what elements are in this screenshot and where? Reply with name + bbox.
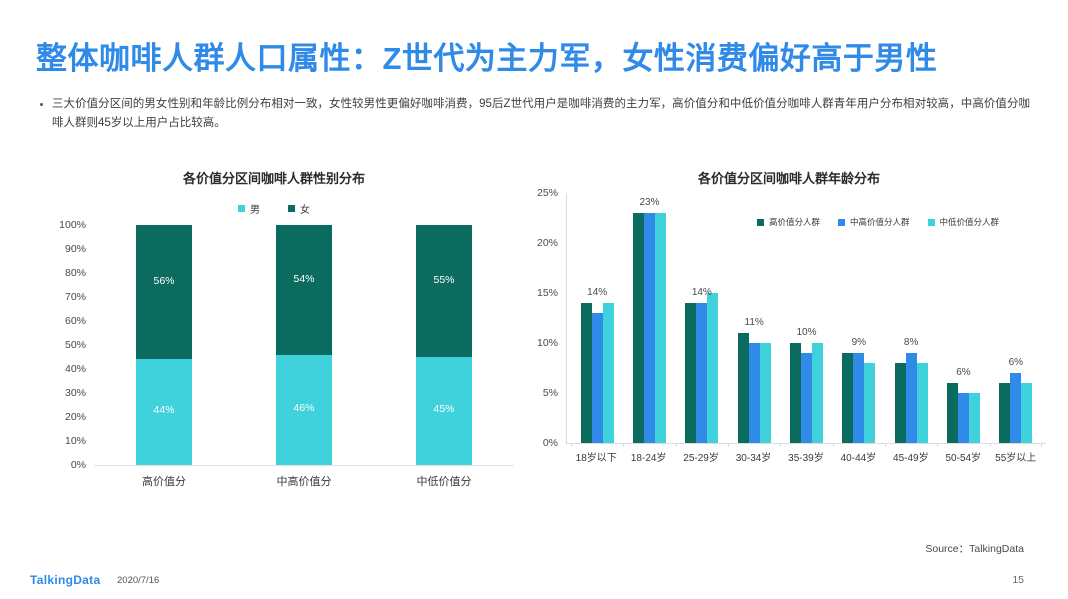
- stacked-bar-column[interactable]: 54% 46%: [276, 225, 332, 465]
- bars-container-age: 高价值分人群 中高价值分人群 中低价值分人群 14%: [566, 193, 1046, 444]
- bar-mid-high-value[interactable]: [958, 393, 969, 443]
- legend-label: 女: [300, 201, 310, 216]
- bar-value-label: 6%: [937, 367, 989, 378]
- x-tick-label: 18-24岁: [622, 449, 674, 464]
- bar-value-label: 54%: [293, 273, 314, 285]
- bar-value-label: 46%: [293, 402, 314, 414]
- axis-tick: [571, 443, 572, 447]
- bar-mid-high-value[interactable]: [749, 343, 760, 443]
- stacked-bar-column[interactable]: 56% 44%: [136, 225, 192, 465]
- bar-segment-male[interactable]: 45%: [416, 357, 472, 465]
- y-axis-gender: 100% 90% 80% 70% 60% 50% 40% 30% 20% 10%…: [46, 225, 86, 465]
- x-tick-label: 30-34岁: [727, 449, 779, 464]
- source-note: Source：TalkingData: [925, 541, 1024, 556]
- x-tick-label: 50-54岁: [937, 449, 989, 464]
- bar-group[interactable]: 9%: [833, 193, 885, 443]
- footer-date: 2020/7/16: [117, 575, 159, 586]
- subtitle-text: 三大价值分区间的男女性别和年龄比例分布相对一致，女性较男性更偏好咖啡消费，95后…: [52, 95, 1030, 133]
- y-tick: 25%: [537, 187, 558, 199]
- bar-mid-low-value[interactable]: [760, 343, 771, 443]
- y-tick: 0%: [71, 459, 86, 471]
- bar-mid-high-value[interactable]: [592, 313, 603, 443]
- legend-item-female[interactable]: 女: [288, 201, 310, 216]
- axis-tick: [885, 443, 886, 447]
- legend-label: 男: [250, 201, 260, 216]
- y-tick: 20%: [537, 237, 558, 249]
- x-tick-label: 高价值分: [119, 473, 209, 489]
- y-tick: 20%: [65, 411, 86, 423]
- axis-tick: [728, 443, 729, 447]
- plot-area-age: 25% 20% 15% 10% 5% 0% 高价值分人群 中高价值分人群: [524, 193, 1054, 443]
- y-tick: 40%: [65, 363, 86, 375]
- bar-high-value[interactable]: [842, 353, 853, 443]
- x-axis-gender: 高价值分 中高价值分 中低价值分: [94, 473, 514, 489]
- y-axis-age: 25% 20% 15% 10% 5% 0%: [524, 193, 558, 443]
- x-tick-label: 中高价值分: [259, 473, 349, 489]
- bar-segment-female[interactable]: 55%: [416, 225, 472, 357]
- axis-tick: [676, 443, 677, 447]
- bar-mid-high-value[interactable]: [644, 213, 655, 443]
- bar-mid-low-value[interactable]: [603, 303, 614, 443]
- x-tick-label: 40-44岁: [832, 449, 884, 464]
- bar-high-value[interactable]: [633, 213, 644, 443]
- bar-high-value[interactable]: [738, 333, 749, 443]
- gender-distribution-chart: 各价值分区间咖啡人群性别分布 男 女 100% 90% 80% 70% 60% …: [24, 160, 524, 500]
- y-tick: 90%: [65, 243, 86, 255]
- bar-value-label: 9%: [833, 337, 885, 348]
- bar-value-label: 23%: [623, 197, 675, 208]
- subtitle-block: 三大价值分区间的男女性别和年龄比例分布相对一致，女性较男性更偏好咖啡消费，95后…: [40, 95, 1030, 133]
- x-tick-label: 35-39岁: [780, 449, 832, 464]
- bar-group[interactable]: 14%: [676, 193, 728, 443]
- y-tick: 100%: [59, 219, 86, 231]
- bar-mid-high-value[interactable]: [853, 353, 864, 443]
- bar-value-label: 6%: [990, 357, 1042, 368]
- x-tick-label: 25-29岁: [675, 449, 727, 464]
- y-tick: 80%: [65, 267, 86, 279]
- grouped-bars: 14% 23% 14%: [567, 193, 1046, 443]
- legend-item-male[interactable]: 男: [238, 201, 260, 216]
- bar-segment-male[interactable]: 46%: [276, 355, 332, 465]
- bar-group[interactable]: 6%: [990, 193, 1042, 443]
- axis-tick: [990, 443, 991, 447]
- bar-segment-male[interactable]: 44%: [136, 359, 192, 465]
- bar-mid-low-value[interactable]: [707, 293, 718, 443]
- axis-tick: [937, 443, 938, 447]
- chart-title-age: 各价值分区间咖啡人群年龄分布: [524, 168, 1054, 187]
- bar-high-value[interactable]: [947, 383, 958, 443]
- y-tick: 70%: [65, 291, 86, 303]
- x-tick-label: 55岁以上: [990, 449, 1042, 464]
- legend-gender: 男 女: [24, 201, 524, 215]
- bar-mid-low-value[interactable]: [864, 363, 875, 443]
- bar-value-label: 56%: [153, 275, 174, 287]
- x-tick-label: 45-49岁: [885, 449, 937, 464]
- bar-high-value[interactable]: [581, 303, 592, 443]
- y-tick: 50%: [65, 339, 86, 351]
- bar-group[interactable]: 11%: [728, 193, 780, 443]
- bar-value-label: 11%: [728, 317, 780, 328]
- x-tick-label: 18岁以下: [570, 449, 622, 464]
- page-number: 15: [1012, 574, 1024, 586]
- y-tick: 30%: [65, 387, 86, 399]
- y-tick: 15%: [537, 287, 558, 299]
- bar-mid-high-value[interactable]: [1010, 373, 1021, 443]
- bar-mid-low-value[interactable]: [1021, 383, 1032, 443]
- bar-group[interactable]: 23%: [623, 193, 675, 443]
- bar-high-value[interactable]: [999, 383, 1010, 443]
- bar-value-label: 55%: [433, 274, 454, 286]
- x-tick-label: 中低价值分: [399, 473, 489, 489]
- y-tick: 10%: [537, 337, 558, 349]
- y-tick: 60%: [65, 315, 86, 327]
- bar-mid-high-value[interactable]: [801, 353, 812, 443]
- bar-value-label: 10%: [780, 327, 832, 338]
- page-title: 整体咖啡人群人口属性：Z世代为主力军，女性消费偏好高于男性: [36, 33, 937, 78]
- bar-high-value[interactable]: [685, 303, 696, 443]
- slide: 整体咖啡人群人口属性：Z世代为主力军，女性消费偏好高于男性 三大价值分区间的男女…: [0, 0, 1068, 599]
- plot-area-gender: 100% 90% 80% 70% 60% 50% 40% 30% 20% 10%…: [24, 225, 524, 465]
- legend-swatch-icon: [288, 205, 295, 212]
- y-tick: 5%: [543, 387, 558, 399]
- bar-value-label: 14%: [676, 287, 728, 298]
- bar-group[interactable]: 14%: [571, 193, 623, 443]
- y-tick: 10%: [65, 435, 86, 447]
- bar-high-value[interactable]: [895, 363, 906, 443]
- chart-title-gender: 各价值分区间咖啡人群性别分布: [24, 168, 524, 187]
- age-distribution-chart: 各价值分区间咖啡人群年龄分布 25% 20% 15% 10% 5% 0% 高价值…: [524, 160, 1054, 500]
- bars-container-gender: 56% 44% 54% 46%: [94, 225, 514, 466]
- bar-group[interactable]: 10%: [780, 193, 832, 443]
- bar-high-value[interactable]: [790, 343, 801, 443]
- bar-value-label: 45%: [433, 403, 454, 415]
- axis-tick: [833, 443, 834, 447]
- stacked-bar-column[interactable]: 55% 45%: [416, 225, 472, 465]
- bullet-point-icon: [40, 103, 43, 106]
- bar-group[interactable]: 6%: [937, 193, 989, 443]
- bar-value-label: 8%: [885, 337, 937, 348]
- stacked-bars: 56% 44% 54% 46%: [94, 225, 514, 465]
- bar-mid-low-value[interactable]: [969, 393, 980, 443]
- axis-tick: [780, 443, 781, 447]
- legend-swatch-icon: [238, 205, 245, 212]
- bar-segment-female[interactable]: 56%: [136, 225, 192, 359]
- bar-value-label: 14%: [571, 287, 623, 298]
- talkingdata-logo: TalkingData: [30, 573, 100, 587]
- y-tick: 0%: [543, 437, 558, 449]
- bar-segment-female[interactable]: 54%: [276, 225, 332, 355]
- x-axis-age: 18岁以下 18-24岁 25-29岁 30-34岁 35-39岁 40-44岁…: [566, 449, 1046, 464]
- bar-mid-low-value[interactable]: [812, 343, 823, 443]
- bar-mid-low-value[interactable]: [655, 213, 666, 443]
- bar-mid-high-value[interactable]: [906, 353, 917, 443]
- axis-tick: [1041, 443, 1042, 447]
- bar-group[interactable]: 8%: [885, 193, 937, 443]
- bar-mid-low-value[interactable]: [917, 363, 928, 443]
- bar-value-label: 44%: [153, 404, 174, 416]
- axis-tick: [623, 443, 624, 447]
- bar-mid-high-value[interactable]: [696, 303, 707, 443]
